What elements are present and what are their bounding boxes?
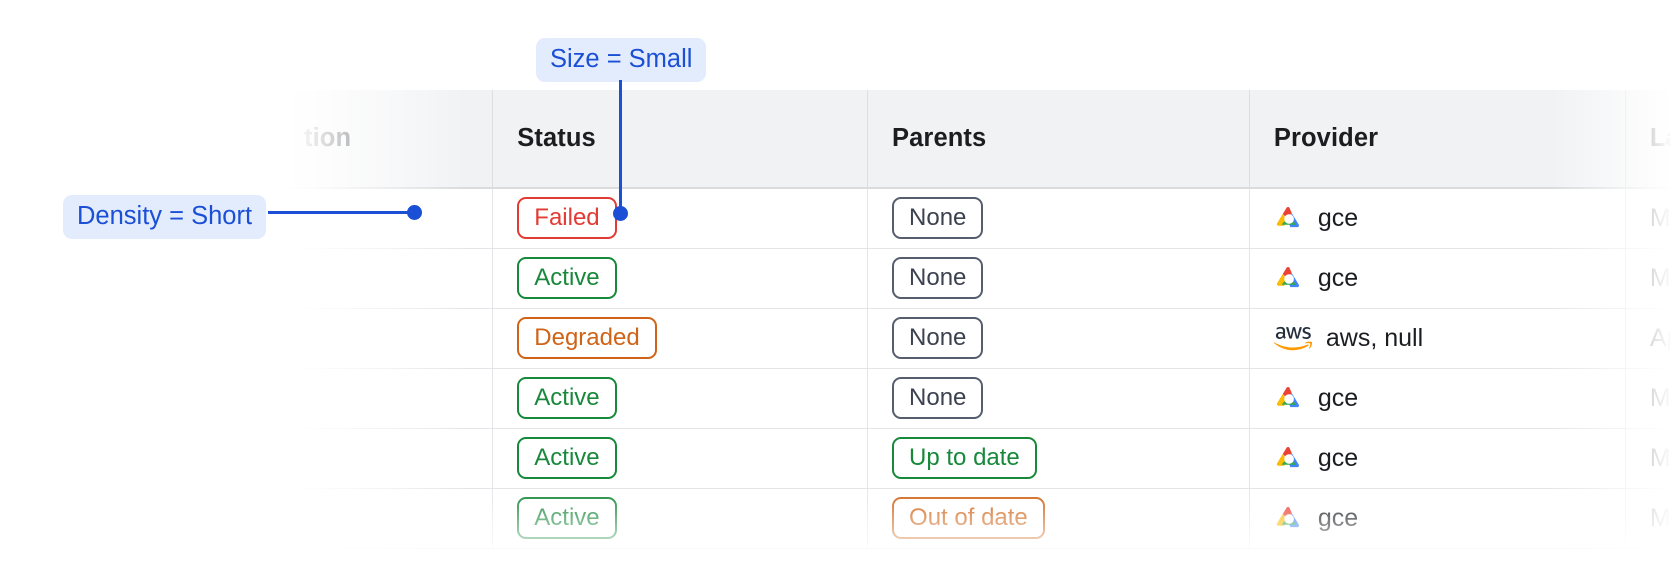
cell-description bbox=[280, 368, 493, 428]
provider-cell: gce bbox=[1274, 444, 1601, 473]
annotation-density-chip: Density = Short bbox=[63, 195, 266, 239]
google-cloud-icon bbox=[1274, 205, 1304, 231]
cell-provider: gce bbox=[1249, 488, 1625, 548]
cell-status: Active bbox=[493, 488, 868, 548]
resources-table: tion Status Parents Provider Last u Fail… bbox=[280, 90, 1672, 549]
cell-description bbox=[280, 308, 493, 368]
provider-label: aws, null bbox=[1326, 324, 1423, 353]
column-header-provider[interactable]: Provider bbox=[1249, 90, 1625, 188]
column-header-last-updated[interactable]: Last u bbox=[1625, 90, 1672, 188]
parents-badge: None bbox=[892, 377, 983, 419]
parents-badge: Up to date bbox=[892, 437, 1037, 479]
cell-parents: None bbox=[868, 188, 1250, 248]
table-header-row: tion Status Parents Provider Last u bbox=[280, 90, 1672, 188]
cell-last-updated: Mar 15 bbox=[1625, 368, 1672, 428]
provider-label: gce bbox=[1318, 264, 1358, 293]
cell-last-updated: Apr 4, bbox=[1625, 308, 1672, 368]
provider-label: gce bbox=[1318, 444, 1358, 473]
table-header: tion Status Parents Provider Last u bbox=[280, 90, 1672, 188]
last-updated-monthday: Mar 15 bbox=[1650, 384, 1672, 412]
cell-status: Degraded bbox=[493, 308, 868, 368]
last-updated-value: May 3, bbox=[1650, 204, 1672, 232]
google-cloud-icon bbox=[1274, 505, 1304, 531]
cell-description bbox=[280, 488, 493, 548]
column-header-status[interactable]: Status bbox=[493, 90, 868, 188]
data-table-viewport[interactable]: tion Status Parents Provider Last u Fail… bbox=[280, 90, 1672, 564]
last-updated-value: Mar 14 bbox=[1650, 504, 1672, 532]
cell-status: Active bbox=[493, 248, 868, 308]
aws-icon bbox=[1274, 324, 1312, 352]
last-updated-value: Apr 4, bbox=[1650, 324, 1672, 352]
cell-last-updated: Mar 14 bbox=[1625, 428, 1672, 488]
cell-status: Failed bbox=[493, 188, 868, 248]
cell-last-updated: May 3, bbox=[1625, 188, 1672, 248]
status-badge: Active bbox=[517, 257, 616, 299]
table-row[interactable]: ActiveUp to date gceMar 14 bbox=[280, 428, 1672, 488]
last-updated-monthday: May 3 bbox=[1650, 264, 1672, 292]
table-row[interactable]: DegradedNone aws, nullApr 4, bbox=[280, 308, 1672, 368]
cell-description bbox=[280, 248, 493, 308]
last-updated-monthday: May 3 bbox=[1650, 204, 1672, 232]
cell-parents: None bbox=[868, 368, 1250, 428]
parents-badge: None bbox=[892, 257, 983, 299]
cell-description bbox=[280, 428, 493, 488]
status-badge: Failed bbox=[517, 197, 616, 239]
last-updated-monthday: Apr 4 bbox=[1650, 324, 1672, 352]
table-body: FailedNone gceMay 3,ActiveNone gceMay 3,… bbox=[280, 188, 1672, 548]
status-badge: Active bbox=[517, 497, 616, 539]
status-badge: Degraded bbox=[517, 317, 656, 359]
table-row[interactable]: ActiveNone gceMay 3, bbox=[280, 248, 1672, 308]
last-updated-monthday: Mar 14 bbox=[1650, 504, 1672, 532]
table-row[interactable]: ActiveNone gceMar 15 bbox=[280, 368, 1672, 428]
last-updated-monthday: Mar 14 bbox=[1650, 444, 1672, 472]
table-row[interactable]: ActiveOut of date gceMar 14 bbox=[280, 488, 1672, 548]
annotation-density-endpoint-dot bbox=[407, 205, 422, 220]
status-badge: Active bbox=[517, 377, 616, 419]
cell-last-updated: Mar 14 bbox=[1625, 488, 1672, 548]
cell-last-updated: May 3, bbox=[1625, 248, 1672, 308]
google-cloud-icon bbox=[1274, 265, 1304, 291]
cell-description bbox=[280, 188, 493, 248]
cell-status: Active bbox=[493, 368, 868, 428]
cell-status: Active bbox=[493, 428, 868, 488]
provider-label: gce bbox=[1318, 504, 1358, 533]
screenshot-root: tion Status Parents Provider Last u Fail… bbox=[0, 0, 1672, 564]
cell-provider: gce bbox=[1249, 368, 1625, 428]
provider-cell: gce bbox=[1274, 504, 1601, 533]
last-updated-value: Mar 14 bbox=[1650, 444, 1672, 472]
provider-cell: aws, null bbox=[1274, 324, 1601, 353]
annotation-size-endpoint-dot bbox=[613, 206, 628, 221]
status-badge: Active bbox=[517, 437, 616, 479]
cell-parents: Out of date bbox=[868, 488, 1250, 548]
column-header-parents[interactable]: Parents bbox=[868, 90, 1250, 188]
annotation-size-leader-line bbox=[619, 80, 622, 210]
google-cloud-icon bbox=[1274, 445, 1304, 471]
cell-provider: gce bbox=[1249, 428, 1625, 488]
provider-cell: gce bbox=[1274, 384, 1601, 413]
last-updated-value: Mar 15 bbox=[1650, 384, 1672, 412]
cell-parents: None bbox=[868, 248, 1250, 308]
provider-label: gce bbox=[1318, 204, 1358, 233]
google-cloud-icon bbox=[1274, 385, 1304, 411]
column-header-description[interactable]: tion bbox=[280, 90, 493, 188]
cell-provider: aws, null bbox=[1249, 308, 1625, 368]
parents-badge: None bbox=[892, 197, 983, 239]
annotation-density-leader-line bbox=[268, 211, 416, 214]
table-row[interactable]: FailedNone gceMay 3, bbox=[280, 188, 1672, 248]
parents-badge: None bbox=[892, 317, 983, 359]
cell-parents: Up to date bbox=[868, 428, 1250, 488]
provider-cell: gce bbox=[1274, 204, 1601, 233]
provider-label: gce bbox=[1318, 384, 1358, 413]
last-updated-value: May 3, bbox=[1650, 264, 1672, 292]
cell-parents: None bbox=[868, 308, 1250, 368]
provider-cell: gce bbox=[1274, 264, 1601, 293]
annotation-size-chip: Size = Small bbox=[536, 38, 706, 82]
cell-provider: gce bbox=[1249, 248, 1625, 308]
parents-badge: Out of date bbox=[892, 497, 1045, 539]
cell-provider: gce bbox=[1249, 188, 1625, 248]
